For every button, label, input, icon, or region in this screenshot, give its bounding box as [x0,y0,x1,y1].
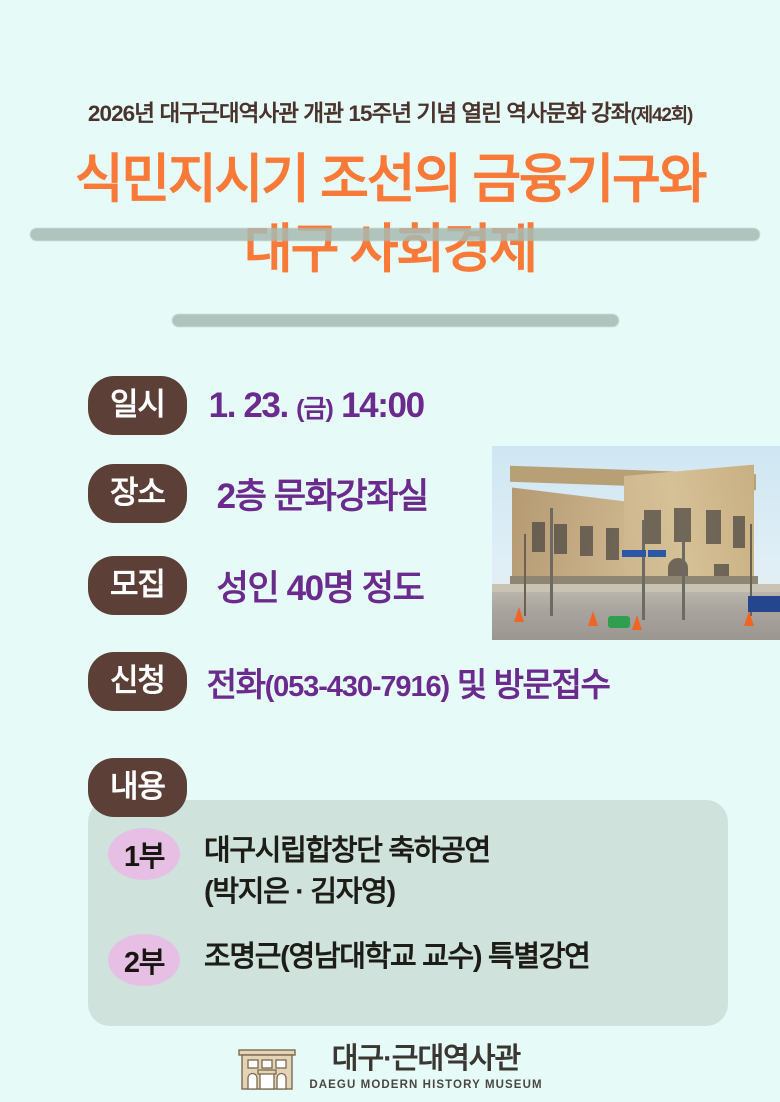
photo-banner [748,596,780,612]
info-row-place: 장소 2층 문화강좌실 [88,464,428,523]
title-line-1: 식민지시기 조선의 금융기구와 [0,150,780,210]
museum-logo-text: 대구·근대역사관 DAEGU MODERN HISTORY MUSEUM [309,1045,542,1091]
title-underline-bar-1 [30,228,760,241]
info-label-application: 신청 [88,652,187,711]
application-value-suffix: 및 방문접수 [449,666,609,703]
date-value-weekday: (금) [296,395,333,423]
info-row-application: 신청 전화(053-430-7916) 및 방문접수 [88,652,609,711]
photo-window [733,516,745,548]
photo-window [644,510,661,544]
photo-signal-pole [682,534,685,620]
part-badge-1: 1부 [108,828,180,880]
photo-window [554,524,567,554]
part-badge-2: 2부 [108,934,180,986]
content-part-1: 1부 대구시립합창단 축하공연 (박지은 · 김자영) [108,828,490,913]
date-value-time: 14:00 [333,386,424,425]
kicker-main: 2026년 대구근대역사관 개관 15주년 기념 열린 역사문화 강좌 [88,101,631,126]
photo-bicycle [608,616,630,628]
application-phone-number[interactable]: (053-430-7916) [265,671,450,703]
photo-traffic-cone [588,611,598,626]
info-label-content: 내용 [88,758,187,817]
museum-name-english: DAEGU MODERN HISTORY MUSEUM [309,1079,542,1091]
event-poster: 2026년 대구근대역사관 개관 15주년 기념 열린 역사문화 강좌(제42회… [0,0,780,1102]
info-label-place: 장소 [88,464,187,523]
application-value-prefix: 전화 [207,666,265,703]
photo-traffic-cone [632,615,642,630]
part-text-2: 조명근(영남대학교 교수) 특별강연 [204,934,590,978]
info-value-place: 2층 문화강좌실 [217,468,428,519]
footer-logo: 대구·근대역사관 DAEGU MODERN HISTORY MUSEUM [0,1044,780,1092]
content-part-2: 2부 조명근(영남대학교 교수) 특별강연 [108,934,590,986]
photo-street-sign [648,550,666,557]
info-row-date: 일시 1. 23. (금) 14:00 [88,376,424,435]
info-value-application: 전화(053-430-7916) 및 방문접수 [207,658,610,706]
photo-traffic-cone [744,611,754,626]
photo-tree [524,534,526,616]
photo-street-sign [622,550,646,557]
museum-building-photo [492,446,780,640]
photo-light-pole [550,508,553,616]
photo-window [606,528,619,560]
photo-traffic-cone [514,607,524,622]
photo-window [706,510,721,544]
poster-kicker: 2026년 대구근대역사관 개관 15주년 기념 열린 역사문화 강좌(제42회… [0,96,780,128]
info-row-capacity: 모집 성인 40명 정도 [88,556,423,615]
date-value-prefix: 1. 23. [209,386,297,425]
info-value-date: 1. 23. (금) 14:00 [209,386,424,426]
part-text-1: 대구시립합창단 축하공연 (박지은 · 김자영) [204,828,490,913]
photo-traffic-pole [642,520,645,620]
museum-building-icon [237,1044,297,1092]
photo-window [580,526,593,556]
part-1-line-2: (박지은 · 김자영) [204,872,490,913]
part-2-line-1: 조명근(영남대학교 교수) 특별강연 [204,937,590,978]
title-underline-bar-2 [172,314,619,327]
museum-name-korean: 대구·근대역사관 [332,1045,520,1074]
kicker-suffix: (제42회) [631,105,693,126]
info-label-capacity: 모집 [88,556,187,615]
info-label-date: 일시 [88,376,187,435]
info-value-capacity: 성인 40명 정도 [217,560,424,611]
poster-title: 식민지시기 조선의 금융기구와 대구 사회경제 [0,150,780,281]
part-1-line-1: 대구시립합창단 축하공연 [204,831,490,872]
photo-window [532,522,545,552]
